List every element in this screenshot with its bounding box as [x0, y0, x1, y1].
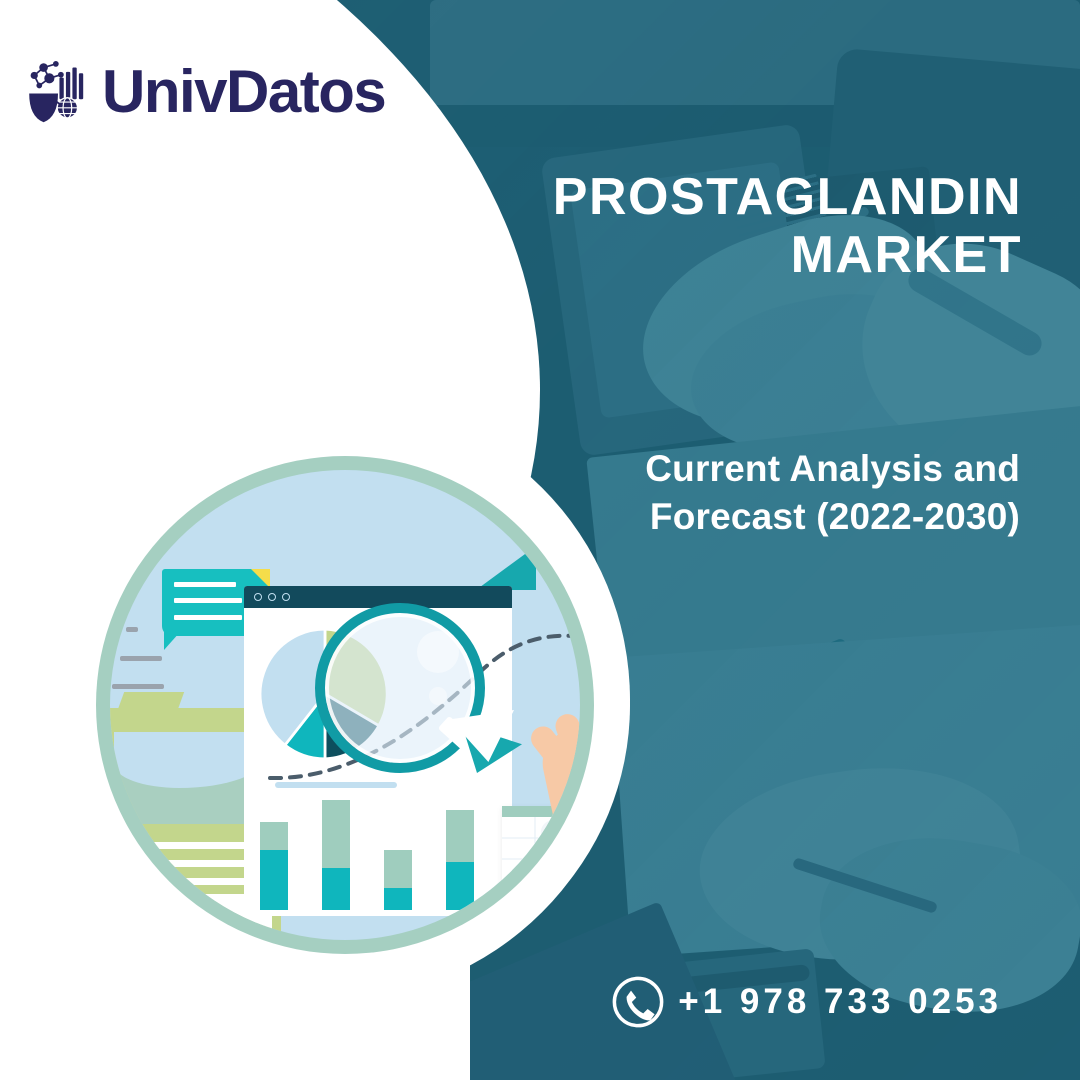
subtitle-line-1: Current Analysis and [500, 445, 1020, 493]
text-line-decor-2 [120, 656, 162, 661]
text-line-decor-1 [126, 627, 138, 632]
title-line-2: MARKET [462, 226, 1022, 284]
browser-dot-2 [268, 593, 276, 601]
report-line-2 [134, 860, 252, 867]
subtitle-line-2: Forecast (2022-2030) [500, 493, 1020, 541]
title-line-1: PROSTAGLANDIN [462, 168, 1022, 226]
logo-wordmark: UnivDatos [102, 62, 385, 122]
note-card-line-2 [174, 598, 242, 603]
report-line-1 [124, 842, 252, 849]
brand-logo[interactable]: UnivDatos [22, 56, 385, 128]
page-subtitle: Current Analysis and Forecast (2022-2030… [500, 445, 1020, 541]
bar-chart-icon [260, 800, 500, 910]
text-line-decor-3 [112, 684, 164, 689]
phone-in-circle-icon [610, 974, 666, 1030]
browser-dot-1 [254, 593, 262, 601]
contact-phone[interactable]: +1 978 733 0253 [610, 974, 1002, 1030]
bar-1 [260, 822, 288, 910]
network-bars-globe-icon [22, 56, 94, 128]
phone-number-text: +1 978 733 0253 [678, 982, 1002, 1022]
poster-canvas: FINANCIA [0, 0, 1080, 1080]
page-title: PROSTAGLANDIN MARKET [462, 168, 1022, 284]
bar-4 [446, 810, 474, 910]
bar-3 [384, 850, 412, 910]
bar-2 [322, 800, 350, 910]
browser-dot-3 [282, 593, 290, 601]
note-card-line-1 [174, 582, 236, 587]
report-line-3 [146, 878, 252, 885]
